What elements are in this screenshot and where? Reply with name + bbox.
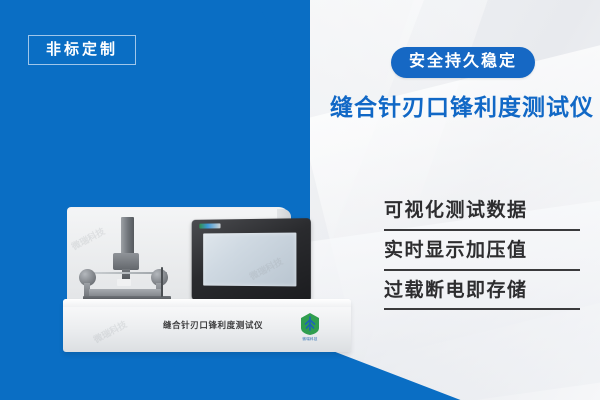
product-machine: 缝合针刃口锋利度测试仪 微瑞科技 (63, 207, 353, 367)
brand-logo: 微瑞科技 (295, 312, 325, 342)
feature-divider (384, 229, 580, 231)
mechanism-wire (161, 267, 163, 297)
page-title: 缝合针刃口锋利度测试仪 (330, 95, 594, 120)
machine-base-top (63, 299, 351, 307)
product-banner: 非标定制 安全持久稳定 缝合针刃口锋利度测试仪 可视化测试数据 实时显示加压值 … (0, 0, 600, 400)
feature-list: 可视化测试数据 实时显示加压值 过载断电即存储 (384, 199, 580, 318)
mechanism-head (113, 253, 139, 270)
feature-item: 实时显示加压值 (384, 239, 580, 271)
mechanism-sample-block (117, 279, 131, 286)
hmi-brand-strip (199, 223, 220, 228)
brand-logo-text: 微瑞科技 (295, 337, 325, 342)
shield-leaf-icon (299, 312, 321, 336)
feature-label: 实时显示加压值 (384, 239, 580, 263)
machine-model-label: 缝合针刃口锋利度测试仪 (123, 319, 303, 331)
hmi-touchscreen[interactable] (192, 218, 311, 302)
feature-divider (384, 269, 580, 271)
feature-item: 过载断电即存储 (384, 279, 580, 311)
tagline-pill: 安全持久稳定 (391, 47, 535, 78)
custom-order-badge: 非标定制 (28, 35, 136, 65)
feature-label: 过载断电即存储 (384, 279, 580, 303)
feature-label: 可视化测试数据 (384, 199, 580, 223)
hmi-display[interactable] (203, 233, 296, 287)
feature-item: 可视化测试数据 (384, 199, 580, 231)
feature-divider (384, 308, 580, 310)
brand-logo-mark (299, 312, 321, 336)
